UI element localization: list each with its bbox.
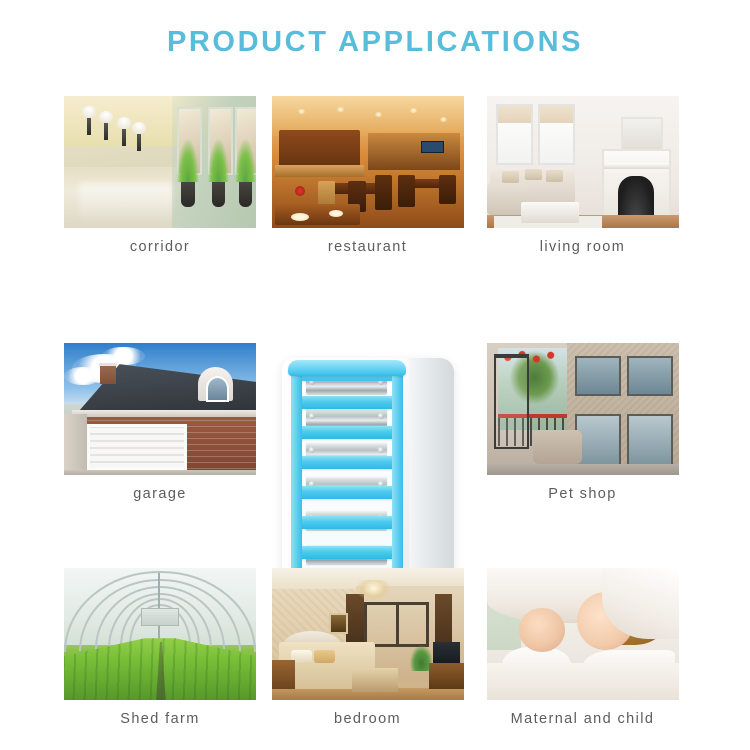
label-shed-farm: Shed farm xyxy=(120,711,200,727)
application-cell-corridor[interactable]: corridor xyxy=(60,92,260,288)
application-cell-garage[interactable]: garage xyxy=(60,288,260,502)
photo-garage xyxy=(64,343,256,475)
application-cell-maternal-and-child[interactable]: Maternal and child xyxy=(475,502,690,727)
product-showcase xyxy=(260,288,475,502)
application-cell-living-room[interactable]: living room xyxy=(475,92,690,288)
photo-living-room xyxy=(487,96,679,228)
lamp-grille-top-cap xyxy=(288,360,406,376)
label-bedroom: bedroom xyxy=(334,711,401,727)
label-garage: garage xyxy=(133,486,187,502)
application-cell-restaurant[interactable]: restaurant xyxy=(260,92,475,288)
label-corridor: corridor xyxy=(130,239,190,255)
applications-grid: corridor restaurant xyxy=(60,92,690,727)
product-applications-page: PRODUCT APPLICATIONS corridor xyxy=(0,0,750,750)
label-pet-shop: Pet shop xyxy=(548,486,616,502)
application-cell-pet-shop[interactable]: Pet shop xyxy=(475,288,690,502)
photo-corridor xyxy=(64,96,256,228)
application-cell-bedroom[interactable]: bedroom xyxy=(260,502,475,727)
page-title: PRODUCT APPLICATIONS xyxy=(0,26,750,59)
label-living-room: living room xyxy=(540,239,626,255)
application-cell-shed-farm[interactable]: Shed farm xyxy=(60,502,260,727)
photo-shed-farm xyxy=(64,568,256,700)
photo-restaurant xyxy=(272,96,464,228)
label-maternal-and-child: Maternal and child xyxy=(511,711,655,727)
label-restaurant: restaurant xyxy=(328,239,407,255)
photo-pet-shop xyxy=(487,343,679,475)
photo-maternal-and-child xyxy=(487,568,679,700)
photo-bedroom xyxy=(272,568,464,700)
